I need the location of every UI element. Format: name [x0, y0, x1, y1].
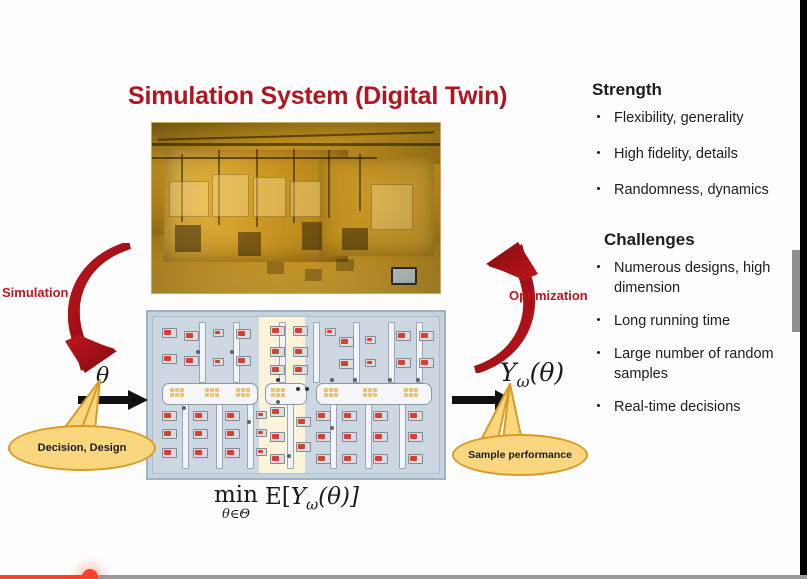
objective-limit-text: θ∈Θ — [222, 508, 250, 521]
list-item: Randomness, dynamics — [592, 180, 804, 200]
list-item-label: Randomness, dynamics — [614, 182, 769, 198]
model-equipment — [365, 336, 376, 344]
expectation-prefix: E[ — [265, 484, 291, 510]
model-equipment — [339, 359, 354, 369]
list-item: Real-time decisions — [592, 397, 804, 417]
model-node — [388, 378, 392, 382]
model-node — [276, 378, 280, 382]
fab-simulation-model — [146, 310, 446, 480]
model-track — [399, 404, 406, 468]
model-equipment — [396, 358, 411, 368]
model-equipment — [419, 358, 434, 368]
strength-bullet-list: Flexibility, generality High fidelity, d… — [592, 108, 804, 200]
scrollbar-track[interactable] — [793, 0, 807, 579]
model-equipment — [270, 326, 285, 336]
model-equipment — [270, 432, 285, 442]
photo-vignette — [152, 123, 440, 293]
model-node — [276, 400, 280, 404]
objective-op-text: min — [214, 484, 258, 507]
fab-cleanroom-photo — [151, 122, 441, 294]
model-equipment — [342, 432, 357, 442]
scrollbar-thumb[interactable] — [792, 250, 800, 332]
model-equipment — [184, 356, 199, 366]
model-node — [353, 378, 357, 382]
model-track — [313, 322, 320, 383]
list-item: Long running time — [592, 311, 804, 331]
video-progress-fill — [0, 575, 90, 579]
bullet-dot-icon — [597, 351, 600, 354]
model-equipment — [184, 331, 199, 341]
model-track — [247, 404, 254, 468]
model-equipment — [396, 331, 411, 341]
bullet-dot-icon — [597, 318, 600, 321]
list-item-label: Flexibility, generality — [614, 110, 743, 126]
model-equipment — [342, 454, 357, 464]
video-progress-track[interactable] — [0, 575, 807, 579]
strength-block: Strength Flexibility, generality High fi… — [592, 80, 804, 200]
model-equipment — [373, 454, 388, 464]
model-stocker-center — [265, 383, 307, 405]
model-equipment — [316, 454, 331, 464]
bullet-dot-icon — [597, 404, 600, 407]
model-equipment — [325, 328, 336, 336]
sample-callout-bubble: Sample performance — [452, 434, 588, 476]
model-track — [365, 404, 372, 468]
model-node — [330, 378, 334, 382]
model-equipment — [270, 347, 285, 357]
model-track — [216, 404, 223, 468]
right-text-column: Strength Flexibility, generality High fi… — [592, 80, 804, 430]
model-equipment — [293, 365, 308, 375]
model-equipment — [256, 411, 267, 419]
expectation-suffix: (θ)] — [318, 484, 359, 510]
decision-design-callout: Decision, Design — [8, 378, 168, 478]
model-equipment — [270, 407, 285, 417]
model-equipment — [419, 331, 434, 341]
model-equipment — [225, 411, 240, 421]
model-equipment — [373, 411, 388, 421]
simulation-label: Simulation — [2, 285, 68, 300]
model-equipment — [256, 448, 267, 456]
model-wafer-group — [271, 388, 285, 397]
list-item: Large number of random samples — [592, 344, 804, 384]
model-equipment — [225, 448, 240, 458]
list-item-label: Long running time — [614, 313, 730, 329]
model-track — [182, 404, 189, 468]
model-track — [287, 404, 294, 468]
model-equipment — [316, 411, 331, 421]
model-equipment — [408, 454, 423, 464]
model-equipment — [236, 356, 251, 366]
model-node — [416, 378, 420, 382]
bullet-dot-icon — [597, 187, 600, 190]
model-wafer-group — [236, 388, 250, 397]
model-equipment — [256, 429, 267, 437]
optimization-label: Optimization — [509, 288, 588, 303]
decision-callout-bubble: Decision, Design — [8, 425, 156, 471]
model-equipment — [296, 417, 311, 427]
objective-expectation: E[Yω(θ)] — [265, 484, 359, 514]
bullet-dot-icon — [597, 151, 600, 154]
bullet-dot-icon — [597, 115, 600, 118]
model-equipment — [316, 432, 331, 442]
optimization-curved-arrow — [440, 238, 550, 373]
model-equipment — [193, 411, 208, 421]
list-item-label: Large number of random samples — [614, 346, 774, 382]
list-item-label: Real-time decisions — [614, 399, 741, 415]
model-wafer-group — [363, 388, 377, 397]
list-item: Numerous designs, high dimension — [592, 258, 804, 298]
expectation-subscript: ω — [306, 496, 318, 514]
model-node — [182, 406, 186, 410]
model-node — [230, 350, 234, 354]
model-inner-panel — [152, 316, 440, 474]
page-title: Simulation System (Digital Twin) — [128, 82, 558, 111]
challenges-block: Challenges Numerous designs, high dimens… — [592, 230, 804, 417]
model-node — [305, 387, 309, 391]
model-track — [330, 404, 337, 468]
model-equipment — [342, 411, 357, 421]
model-equipment — [193, 429, 208, 439]
model-equipment — [270, 365, 285, 375]
model-track — [388, 322, 395, 383]
model-wafer-group — [324, 388, 338, 397]
model-equipment — [270, 454, 285, 464]
model-equipment — [296, 442, 311, 452]
model-equipment — [293, 347, 308, 357]
model-equipment — [373, 432, 388, 442]
model-stocker-left — [162, 383, 258, 405]
model-stocker-right — [316, 383, 432, 405]
expectation-base: Y — [291, 484, 306, 510]
model-equipment — [365, 359, 376, 367]
bullet-dot-icon — [597, 265, 600, 268]
list-item-label: Numerous designs, high dimension — [614, 260, 770, 296]
model-equipment — [408, 411, 423, 421]
sample-performance-callout: Sample performance — [452, 382, 597, 487]
model-equipment — [236, 329, 251, 339]
model-track — [353, 322, 360, 383]
list-item-label: High fidelity, details — [614, 146, 738, 162]
model-equipment — [408, 432, 423, 442]
objective-min-operator: min θ∈Θ — [214, 484, 258, 521]
model-node — [196, 350, 200, 354]
model-equipment — [225, 429, 240, 439]
objective-function: min θ∈Θ E[Yω(θ)] — [214, 484, 359, 521]
list-item: High fidelity, details — [592, 144, 804, 164]
model-equipment — [213, 358, 224, 366]
list-item: Flexibility, generality — [592, 108, 804, 128]
model-equipment — [193, 448, 208, 458]
model-wafer-group — [170, 388, 184, 397]
challenges-bullet-list: Numerous designs, high dimension Long ru… — [592, 258, 804, 417]
simulation-curved-arrow — [55, 243, 165, 378]
slide-canvas: Simulation System (Digital Twin) — [0, 0, 807, 579]
video-progress-knob[interactable] — [82, 569, 98, 579]
model-wafer-group — [205, 388, 219, 397]
model-equipment — [293, 326, 308, 336]
strength-heading: Strength — [592, 80, 804, 100]
model-equipment — [213, 329, 224, 337]
challenges-heading: Challenges — [604, 230, 804, 250]
model-equipment — [339, 337, 354, 347]
model-wafer-group — [404, 388, 418, 397]
